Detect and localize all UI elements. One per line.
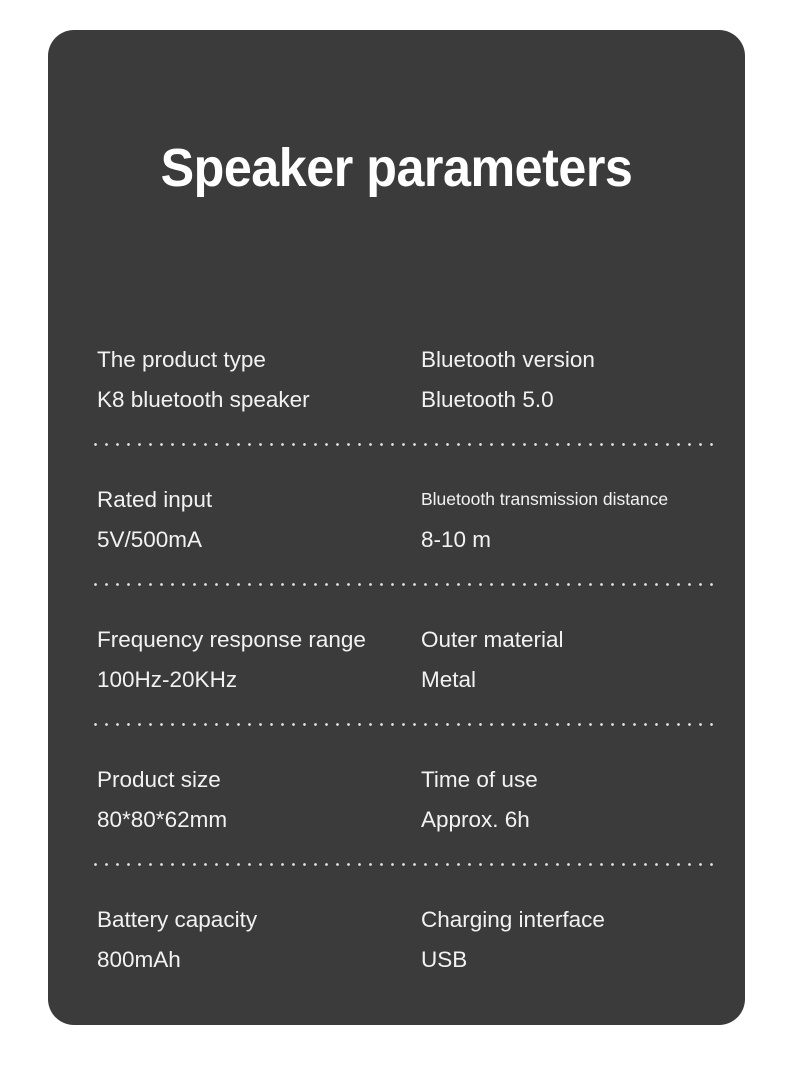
speaker-parameters-card: Speaker parameters The product type K8 b…: [48, 30, 745, 1025]
table-row: Rated input 5V/500mA Bluetooth transmiss…: [90, 460, 713, 600]
spec-value: 80*80*62mm: [97, 804, 417, 835]
page-title: Speaker parameters: [72, 137, 720, 199]
spec-value: 800mAh: [97, 944, 417, 975]
spec-value: Approx. 6h: [421, 804, 713, 835]
spec-label: Frequency response range: [97, 624, 417, 655]
spec-label: Outer material: [421, 624, 713, 655]
row-divider: [90, 723, 713, 726]
table-row: Battery capacity 800mAh Charging interfa…: [90, 880, 713, 1000]
spec-cell-product-size: Product size 80*80*62mm: [97, 764, 417, 835]
table-row: Product size 80*80*62mm Time of use Appr…: [90, 740, 713, 880]
spec-label: Product size: [97, 764, 417, 795]
spec-cell-rated-input: Rated input 5V/500mA: [97, 484, 417, 555]
spec-value: Bluetooth 5.0: [421, 384, 713, 415]
spec-label: Charging interface: [421, 904, 713, 935]
spec-label: Bluetooth version: [421, 344, 713, 375]
spec-label: Time of use: [421, 764, 713, 795]
spec-cell-frequency-response: Frequency response range 100Hz-20KHz: [97, 624, 417, 695]
spec-cell-bluetooth-version: Bluetooth version Bluetooth 5.0: [421, 344, 713, 415]
spec-label: Bluetooth transmission distance: [421, 484, 713, 515]
specifications-table: The product type K8 bluetooth speaker Bl…: [90, 320, 713, 1000]
table-row: Frequency response range 100Hz-20KHz Out…: [90, 600, 713, 740]
spec-cell-time-of-use: Time of use Approx. 6h: [421, 764, 713, 835]
spec-cell-outer-material: Outer material Metal: [421, 624, 713, 695]
spec-cell-battery-capacity: Battery capacity 800mAh: [97, 904, 417, 975]
row-divider: [90, 863, 713, 866]
spec-value: 5V/500mA: [97, 524, 417, 555]
spec-value: USB: [421, 944, 713, 975]
spec-value: Metal: [421, 664, 713, 695]
spec-value: 8-10 m: [421, 524, 713, 555]
spec-label: The product type: [97, 344, 417, 375]
spec-value: 100Hz-20KHz: [97, 664, 417, 695]
row-divider: [90, 443, 713, 446]
spec-label: Battery capacity: [97, 904, 417, 935]
spec-value: K8 bluetooth speaker: [97, 384, 417, 415]
spec-label: Rated input: [97, 484, 417, 515]
table-row: The product type K8 bluetooth speaker Bl…: [90, 320, 713, 460]
spec-cell-transmission-distance: Bluetooth transmission distance 8-10 m: [421, 484, 713, 555]
spec-cell-product-type: The product type K8 bluetooth speaker: [97, 344, 417, 415]
row-divider: [90, 583, 713, 586]
spec-cell-charging-interface: Charging interface USB: [421, 904, 713, 975]
